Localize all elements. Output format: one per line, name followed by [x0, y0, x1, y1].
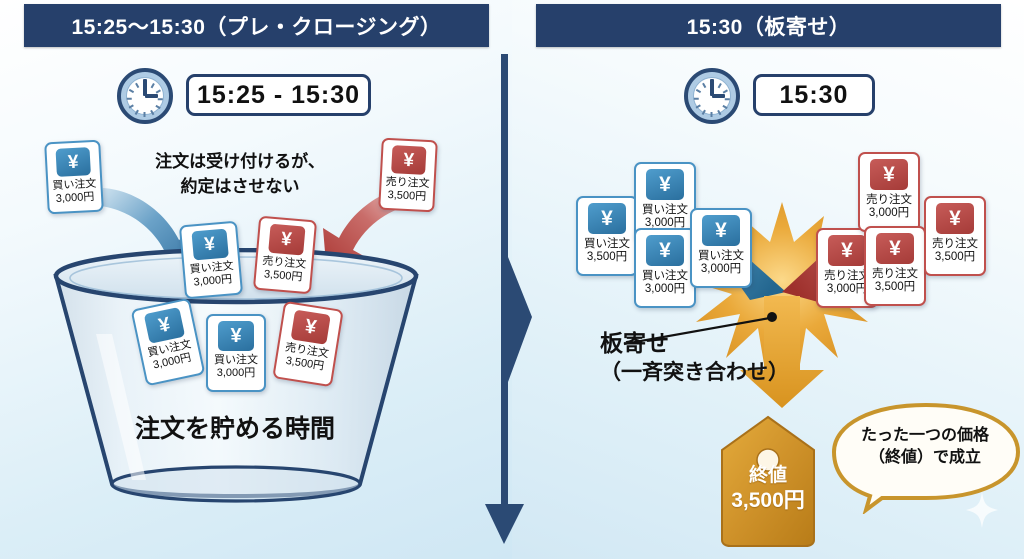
bubble-line2: （終値）で成立	[832, 447, 1018, 469]
order-card-price: 3,000円	[645, 283, 685, 296]
order-card-price: 3,000円	[193, 273, 232, 289]
order-card-sell-inside: ¥ 売り注文 3,500円	[272, 301, 343, 387]
order-card-price: 3,000円	[56, 191, 95, 206]
sparkle-icon	[964, 490, 1000, 530]
order-card-price: 3,500円	[875, 281, 915, 294]
order-card-price: 3,000円	[827, 283, 867, 296]
order-card-buy-1: ¥ 買い注文 3,500円	[576, 196, 638, 276]
yen-icon: ¥	[870, 159, 908, 190]
order-card-sell-2: ¥ 売り注文 3,000円	[858, 152, 920, 232]
yen-icon: ¥	[291, 310, 331, 345]
order-card-buy-inside-mid: ¥ 買い注文 3,000円	[206, 314, 266, 392]
clock-face	[126, 77, 164, 115]
left-note-line1: 注文は受け付けるが、	[140, 150, 340, 175]
yen-icon: ¥	[828, 235, 866, 266]
order-card-price: 3,500円	[587, 251, 627, 264]
left-note: 注文は受け付けるが、 約定はさせない	[140, 150, 340, 199]
closing-price-title: 終値	[716, 464, 820, 488]
order-card-price: 3,500円	[387, 189, 426, 204]
bucket-label: 注文を貯める時間	[135, 409, 335, 445]
order-card-label: 買い注文	[642, 204, 688, 217]
itayose-line1: 板寄せ	[600, 328, 789, 359]
order-card-sell-rim: ¥ 売り注文 3,500円	[253, 216, 317, 295]
right-panel: 15:30（板寄せ） 15:30	[512, 0, 1024, 559]
speech-bubble-text: たった一つの価格 （終値）で成立	[832, 425, 1018, 470]
yen-icon: ¥	[56, 147, 91, 177]
order-card-label: 買い注文	[584, 238, 630, 251]
time-range-label: 15:25 - 15:30	[186, 74, 371, 116]
itayose-line2: （一斉突き合わせ）	[600, 359, 789, 387]
order-card-label: 売り注文	[872, 268, 918, 281]
closing-price-value: 3,500円	[716, 488, 820, 514]
order-card-price: 3,500円	[263, 268, 302, 284]
yen-icon: ¥	[876, 233, 914, 264]
yen-icon: ¥	[646, 235, 684, 266]
order-card-buy-outside: ¥ 買い注文 3,000円	[44, 140, 104, 215]
yen-icon: ¥	[391, 145, 426, 175]
order-card-price: 3,000円	[217, 367, 256, 380]
left-panel-header: 15:25〜15:30（プレ・クロージング）	[24, 4, 489, 47]
time-label: 15:30	[753, 74, 875, 116]
clock-icon	[117, 68, 173, 124]
order-card-buy-rim: ¥ 買い注文 3,000円	[179, 221, 243, 300]
order-card-buy-3: ¥ 買い注文 3,000円	[634, 228, 696, 308]
order-card-buy-4: ¥ 買い注文 3,000円	[690, 208, 752, 288]
closing-price-text: 終値 3,500円	[716, 464, 820, 514]
order-card-label: 売り注文	[866, 194, 912, 207]
order-card-price: 3,000円	[869, 207, 909, 220]
clock-minute-hand	[710, 79, 714, 96]
itayose-annotation: 板寄せ （一斉突き合わせ）	[600, 328, 789, 387]
left-panel: 15:25〜15:30（プレ・クロージング） 15:25 - 15:	[0, 0, 512, 559]
order-card-label: 買い注文	[214, 354, 258, 367]
yen-icon: ¥	[588, 203, 626, 234]
clock-face	[693, 77, 731, 115]
order-card-sell-3: ¥ 売り注文 3,500円	[864, 226, 926, 306]
yen-icon: ¥	[218, 321, 254, 351]
yen-icon: ¥	[646, 169, 684, 200]
clock-icon	[684, 68, 740, 124]
right-panel-header: 15:30（板寄せ）	[536, 4, 1001, 47]
yen-icon: ¥	[268, 224, 305, 256]
infographic-root: 15:25〜15:30（プレ・クロージング） 15:25 - 15:	[0, 0, 1024, 559]
order-card-sell-outside: ¥ 売り注文 3,500円	[378, 138, 438, 213]
order-card-label: 買い注文	[642, 270, 688, 283]
order-card-sell-4: ¥ 売り注文 3,500円	[924, 196, 986, 276]
order-card-label: 買い注文	[698, 250, 744, 263]
yen-icon: ¥	[936, 203, 974, 234]
down-arrow-icon	[476, 52, 536, 550]
order-card-label: 売り注文	[932, 238, 978, 251]
yen-icon: ¥	[191, 229, 228, 261]
bubble-line1: たった一つの価格	[832, 425, 1018, 447]
yen-icon: ¥	[702, 215, 740, 246]
clock-minute-hand	[143, 79, 147, 96]
left-note-line2: 約定はさせない	[140, 175, 340, 200]
order-card-price: 3,500円	[935, 251, 975, 264]
yen-icon: ¥	[144, 307, 185, 344]
order-card-price: 3,000円	[701, 263, 741, 276]
